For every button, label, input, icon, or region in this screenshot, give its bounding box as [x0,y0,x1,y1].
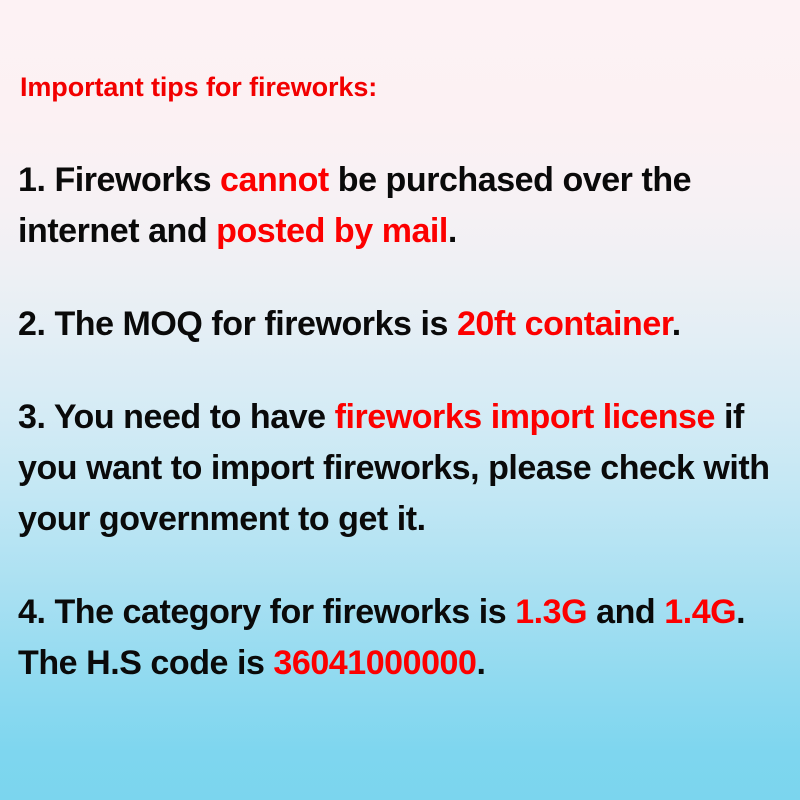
tip-text: . [448,212,457,250]
tip-item: 1. Fireworks cannot be purchased over th… [18,155,788,257]
fireworks-tips-notice: Important tips for fireworks: 1. Firewor… [0,0,800,800]
tip-item: 2. The MOQ for fireworks is 20ft contain… [18,299,788,350]
tip-highlight-text: posted by mail [216,212,448,250]
tip-text: The MOQ for fireworks is [54,305,457,343]
tip-number: 1. [18,161,54,199]
tip-number: 4. [18,593,54,631]
tip-text: You need to have [54,398,335,436]
tip-text: and [587,593,664,631]
tip-number: 2. [18,305,54,343]
tip-text: The category for fireworks is [54,593,515,631]
tip-highlight-text: 1.3G [515,593,587,631]
tip-highlight-text: fireworks import license [335,398,715,436]
tip-text: . [672,305,681,343]
tip-highlight-text: 36041000000 [273,644,476,682]
tip-text: . [476,644,485,682]
tips-list: 1. Fireworks cannot be purchased over th… [18,155,788,689]
tip-highlight-text: 1.4G [664,593,736,631]
tip-item: 4. The category for fireworks is 1.3G an… [18,587,788,689]
page-title: Important tips for fireworks: [20,72,377,103]
tip-number: 3. [18,398,54,436]
tip-highlight-text: 20ft container [457,305,672,343]
tip-item: 3. You need to have fireworks import lic… [18,392,788,545]
tip-text: Fireworks [54,161,220,199]
tip-highlight-text: cannot [220,161,329,199]
